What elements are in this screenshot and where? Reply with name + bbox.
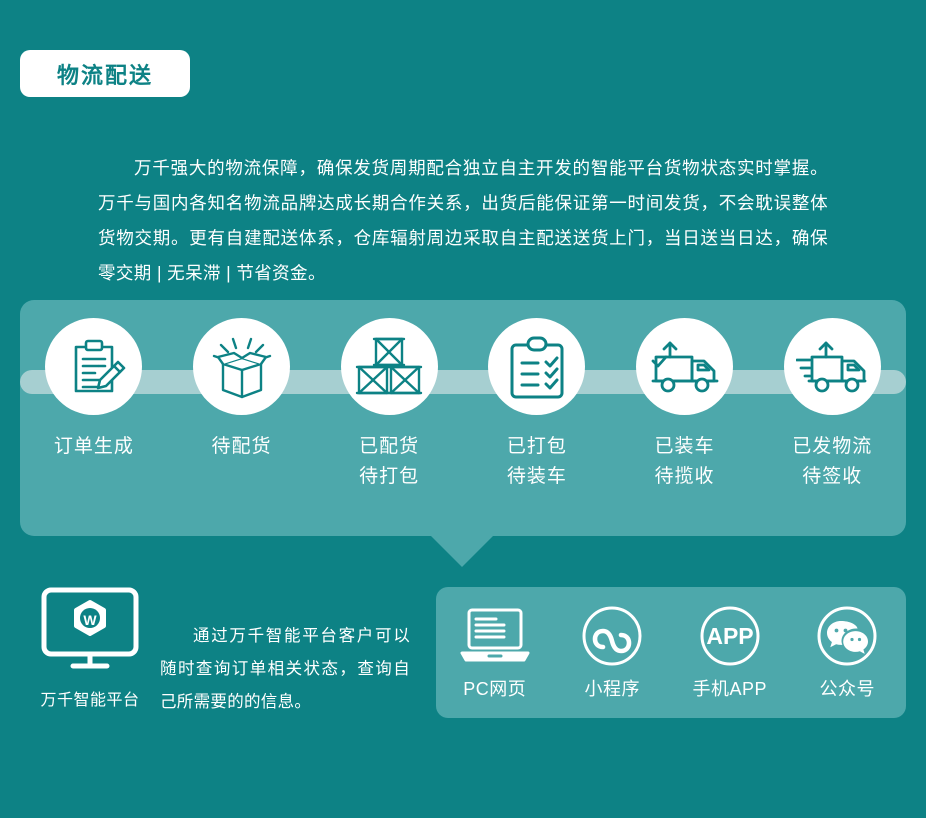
step-awaiting-picking[interactable]: 待配货 (168, 300, 316, 462)
step-label: 订单生成 (54, 432, 134, 462)
svg-text:W: W (83, 612, 97, 628)
step-label: 待配货 (212, 432, 272, 462)
page-title: 物流配送 (57, 58, 153, 90)
laptop-icon (459, 604, 531, 668)
step-icon-circle (784, 318, 881, 415)
intro-paragraph: 万千强大的物流保障，确保发货周期配合独立自主开发的智能平台货物状态实时掌握。万千… (98, 151, 828, 291)
checklist-clipboard-icon (508, 335, 566, 399)
step-packed-awaiting-loading[interactable]: 已打包 待装车 (463, 300, 611, 492)
step-label: 已打包 待装车 (507, 432, 567, 492)
section-title-badge: 物流配送 (20, 50, 190, 97)
step-label: 已发物流 待签收 (792, 432, 872, 492)
monitor-w-logo-icon: W (40, 586, 140, 677)
channel-pc-web[interactable]: PC网页 (436, 604, 554, 701)
mini-program-icon (581, 604, 643, 668)
step-icon-circle (341, 318, 438, 415)
step-icon-circle (45, 318, 142, 415)
step-picked-awaiting-packing[interactable]: 已配货 待打包 (315, 300, 463, 492)
channel-label: PC网页 (463, 675, 526, 701)
platform-label: 万千智能平台 (40, 686, 139, 710)
platform-description: 通过万千智能平台客户可以随时查询订单相关状态，查询自己所需要的的信息。 (160, 620, 410, 719)
step-label: 已装车 待揽收 (655, 432, 715, 492)
steps-row: 订单生成 待配货 (20, 300, 906, 536)
open-box-icon (209, 334, 275, 400)
channel-official-account[interactable]: 公众号 (789, 604, 907, 701)
step-icon-circle (636, 318, 733, 415)
channel-label: 小程序 (585, 675, 641, 701)
step-shipped-awaiting-signature[interactable]: 已发物流 待签收 (758, 300, 906, 492)
app-icon-text: APP (706, 623, 753, 649)
truck-check-icon (650, 339, 720, 395)
step-label: 已配货 待打包 (359, 432, 419, 492)
stacked-crates-icon (355, 336, 423, 398)
channel-mini-program[interactable]: 小程序 (554, 604, 672, 701)
app-circle-icon: APP (699, 604, 761, 668)
channels-card: PC网页 小程序 APP 手机APP (436, 587, 906, 718)
step-icon-circle (193, 318, 290, 415)
truck-moving-icon (796, 339, 868, 395)
panel-arrow-pointer (431, 536, 493, 567)
wechat-bubbles-icon (816, 604, 878, 668)
clipboard-pencil-icon (62, 335, 126, 399)
platform-block: W 万千智能平台 (38, 586, 142, 710)
channel-mobile-app[interactable]: APP 手机APP (671, 604, 789, 701)
step-order-created[interactable]: 订单生成 (20, 300, 168, 462)
step-icon-circle (488, 318, 585, 415)
channel-label: 手机APP (692, 675, 767, 701)
channel-label: 公众号 (820, 675, 876, 701)
step-loaded-awaiting-pickup[interactable]: 已装车 待揽收 (611, 300, 759, 492)
logistics-steps-panel: 订单生成 待配货 (20, 300, 906, 536)
